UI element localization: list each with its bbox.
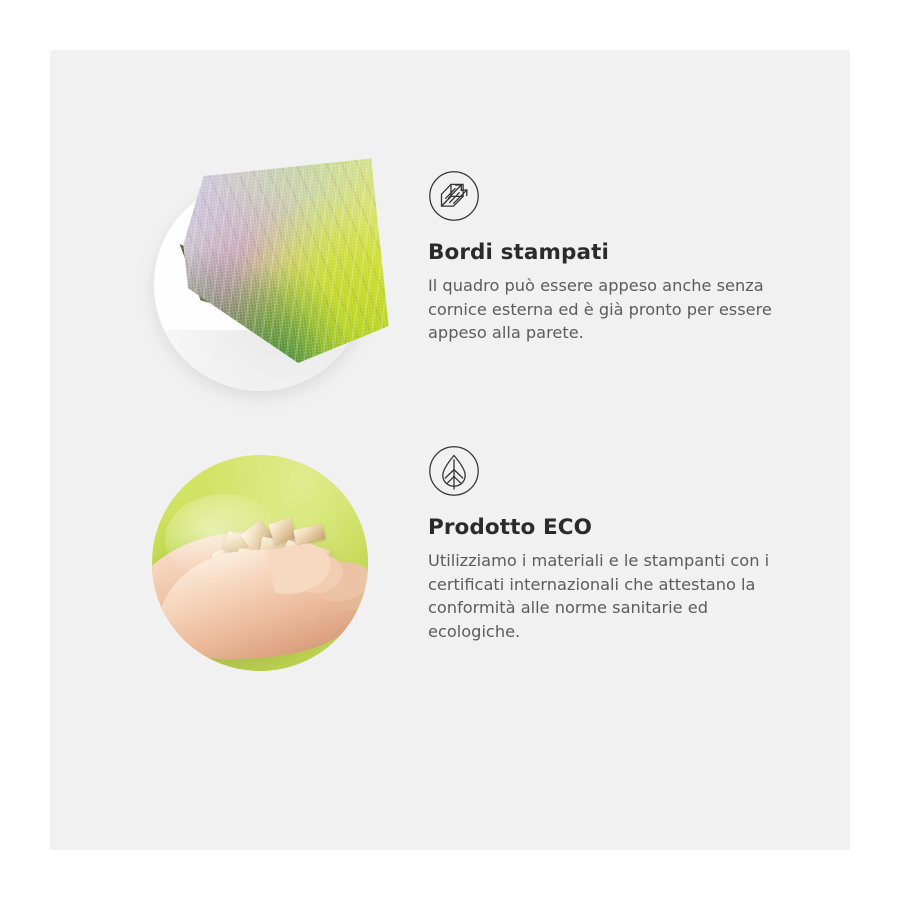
promo-page: Bordi stampati Il quadro può essere appe… — [0, 0, 900, 900]
feature-description: Il quadro può essere appeso anche senza … — [428, 274, 796, 345]
feature-1-content: Bordi stampati Il quadro può essere appe… — [428, 170, 818, 345]
canvas-print-corner-photo — [150, 170, 380, 420]
feature-title: Prodotto ECO — [428, 515, 818, 541]
feature-bordi-stampati: Bordi stampati Il quadro può essere appe… — [50, 170, 850, 460]
leaf-icon — [428, 445, 480, 497]
content-panel: Bordi stampati Il quadro può essere appe… — [50, 50, 850, 850]
fingers — [267, 533, 368, 623]
canvas-artwork — [176, 158, 391, 373]
feature-title: Bordi stampati — [428, 240, 818, 266]
feature-prodotto-eco: Prodotto ECO Utilizziamo i materiali e l… — [50, 445, 850, 735]
canvas-object — [186, 168, 382, 396]
printed-edges-canvas-icon — [428, 170, 480, 222]
feature-description: Utilizziamo i materiali e le stampanti c… — [428, 549, 796, 644]
eco-photo-disc — [152, 455, 368, 671]
feature-2-content: Prodotto ECO Utilizziamo i materiali e l… — [428, 445, 818, 644]
hands-holding-wood-chips-photo — [150, 445, 380, 695]
canvas-printed-face — [176, 158, 391, 373]
